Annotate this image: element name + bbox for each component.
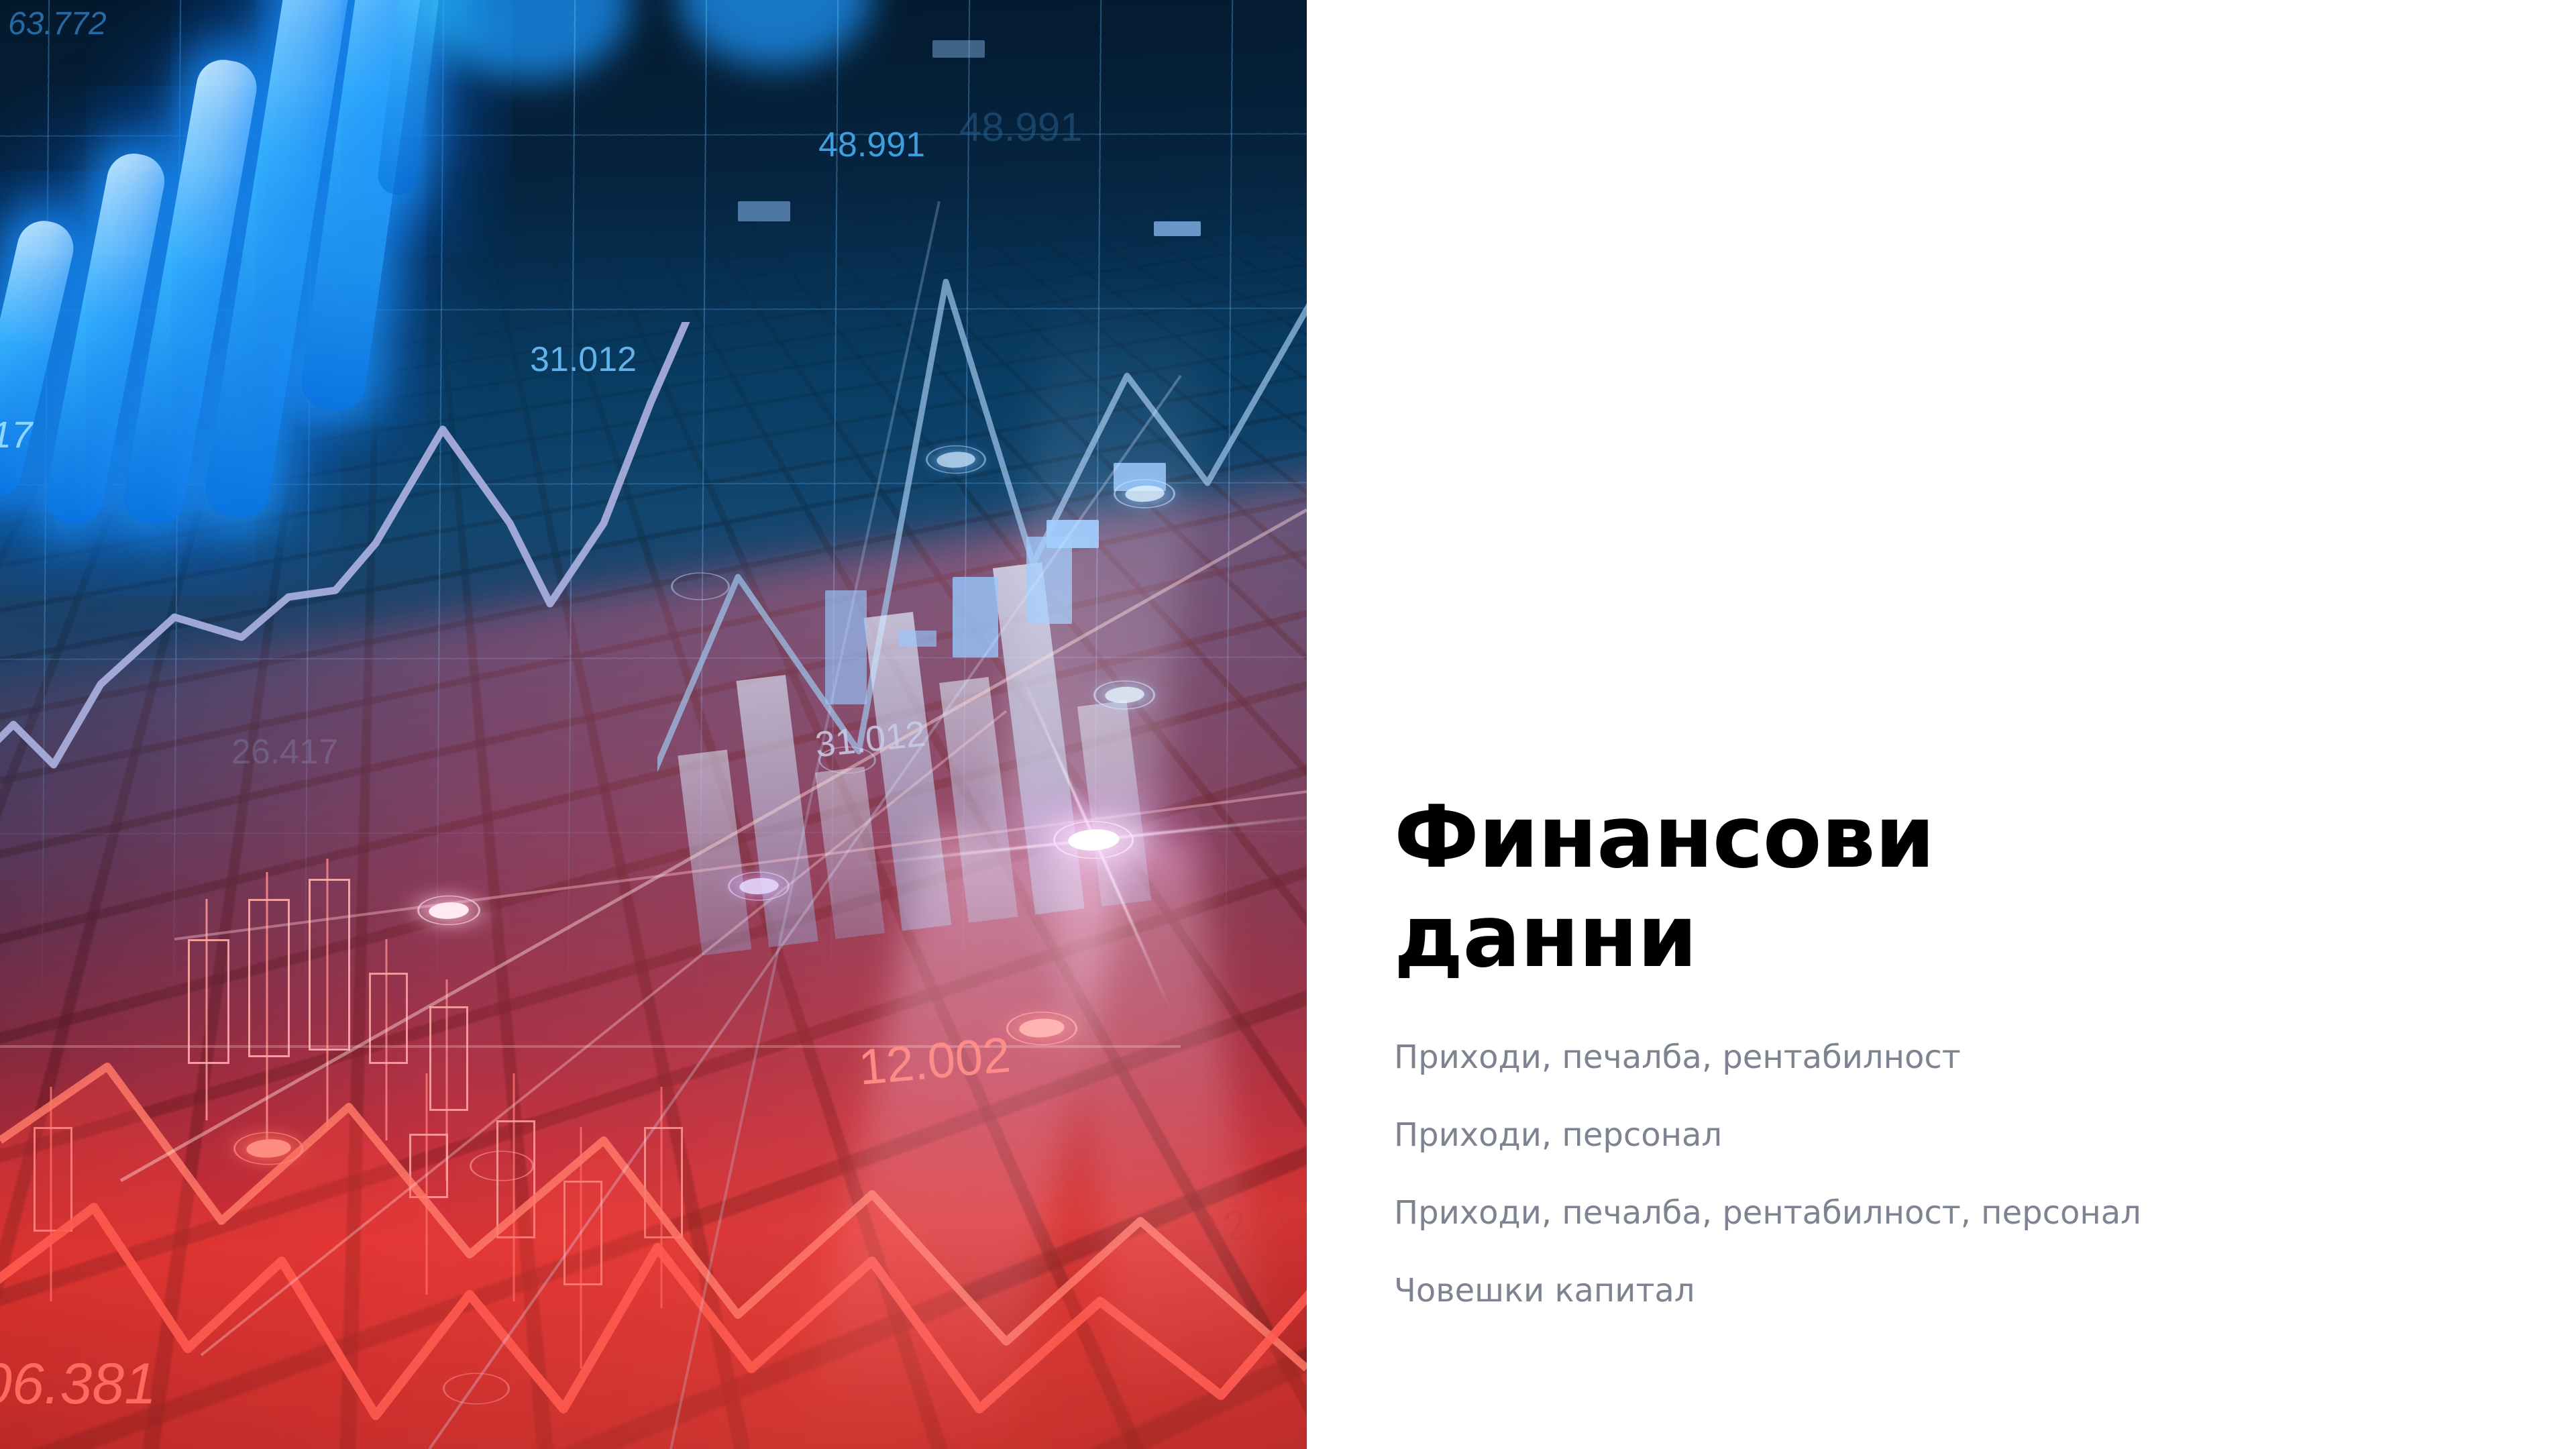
title-line-1: Финансови <box>1394 788 1934 888</box>
glow-node <box>470 1134 534 1198</box>
node-ring <box>435 1370 517 1408</box>
node-ring <box>665 570 737 603</box>
node-ring <box>463 1148 541 1185</box>
data-label: 26.417 <box>231 735 338 769</box>
slide-root: 63.772 48.991 48.991 31.012 17 26.417 31… <box>0 0 2576 1449</box>
data-label: 06.381 <box>0 1355 156 1413</box>
list-item[interactable]: Приходи, печалба, рентабилност, персонал <box>1394 1197 2467 1229</box>
data-label: 17 <box>0 416 32 453</box>
page-title: Финансовиданни <box>1394 788 1934 987</box>
glow-node <box>443 1355 510 1422</box>
glow-node <box>926 429 986 490</box>
glow-node <box>417 879 480 942</box>
list-item[interactable]: Човешки капитал <box>1394 1275 2467 1307</box>
data-label: 48.991 <box>959 107 1083 148</box>
data-label: 12.002 <box>857 1030 1012 1092</box>
content-panel: Финансовиданни Приходи, печалба, рентаби… <box>1307 0 2576 1449</box>
data-label: 63.772 <box>8 8 107 40</box>
glow-node <box>233 1114 303 1183</box>
financial-background-image: 63.772 48.991 48.991 31.012 17 26.417 31… <box>0 0 1307 1449</box>
glow-node <box>728 855 790 917</box>
title-line-2: данни <box>1394 887 1697 987</box>
data-label: 31.012 <box>530 342 637 377</box>
glow-node <box>671 557 730 616</box>
list-item[interactable]: Приходи, печалба, рентабилност <box>1394 1041 2467 1073</box>
data-label: 48.991 <box>818 127 925 162</box>
topic-list: Приходи, печалба, рентабилност Приходи, … <box>1394 1041 2467 1307</box>
list-item[interactable]: Приходи, персонал <box>1394 1119 2467 1151</box>
